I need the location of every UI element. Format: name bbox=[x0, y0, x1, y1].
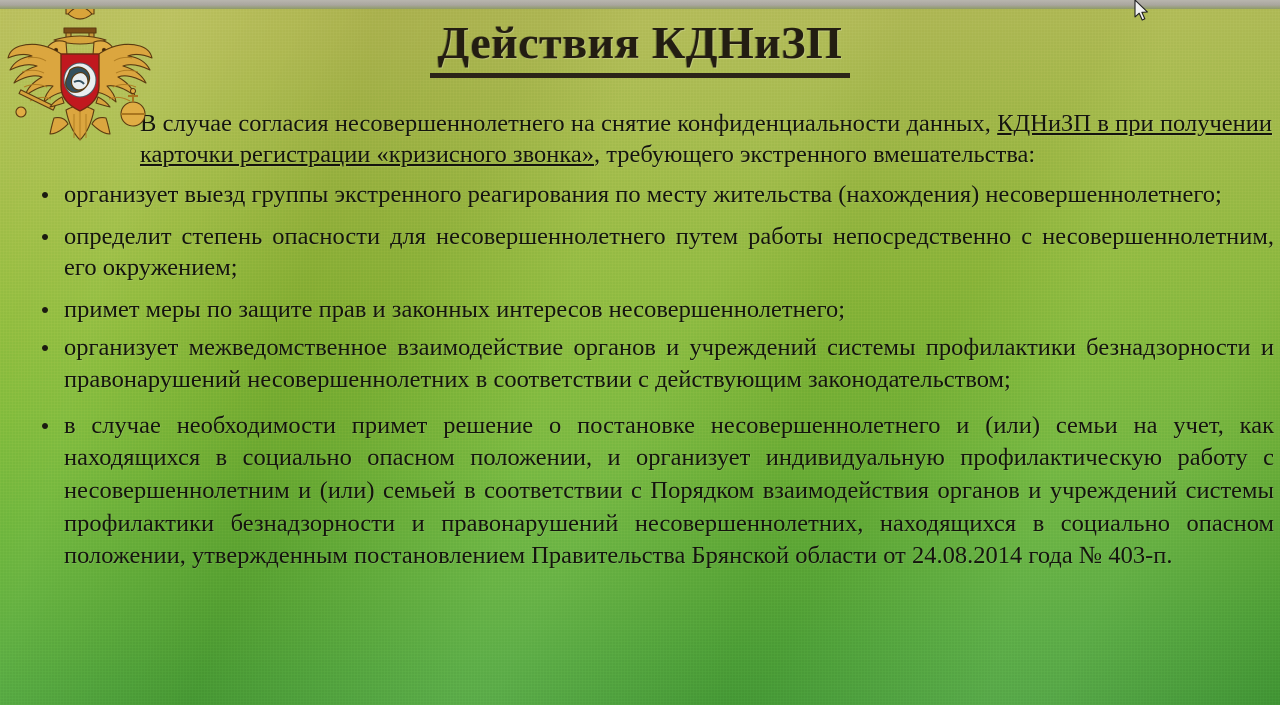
presentation-slide: Действия КДНиЗП В случае согласия несове… bbox=[0, 0, 1280, 705]
intro-paragraph: В случае согласия несовершеннолетнего на… bbox=[140, 108, 1272, 171]
list-item: организует выезд группы экстренного реаг… bbox=[34, 179, 1274, 211]
slide-title-container: Действия КДНиЗП bbox=[0, 16, 1280, 78]
intro-part-2: , требующего экстренного вмешательства: bbox=[594, 141, 1035, 168]
list-item: организует межведомственное взаимодейств… bbox=[34, 332, 1274, 396]
russian-coat-of-arms-icon bbox=[4, 2, 156, 152]
page-title: Действия КДНиЗП bbox=[430, 16, 851, 78]
slide-body: В случае согласия несовершеннолетнего на… bbox=[0, 108, 1280, 583]
list-item: определит степень опасности для несоверш… bbox=[34, 221, 1274, 285]
mouse-pointer-icon bbox=[1134, 0, 1150, 24]
intro-part-1: В случае согласия несовершеннолетнего на… bbox=[140, 110, 997, 137]
list-item: в случае необходимости примет решение о … bbox=[34, 410, 1274, 573]
screen-top-edge-strip bbox=[0, 0, 1280, 9]
actions-bullet-list: организует выезд группы экстренного реаг… bbox=[0, 179, 1280, 573]
list-item: примет меры по защите прав и законных ин… bbox=[34, 294, 1274, 326]
